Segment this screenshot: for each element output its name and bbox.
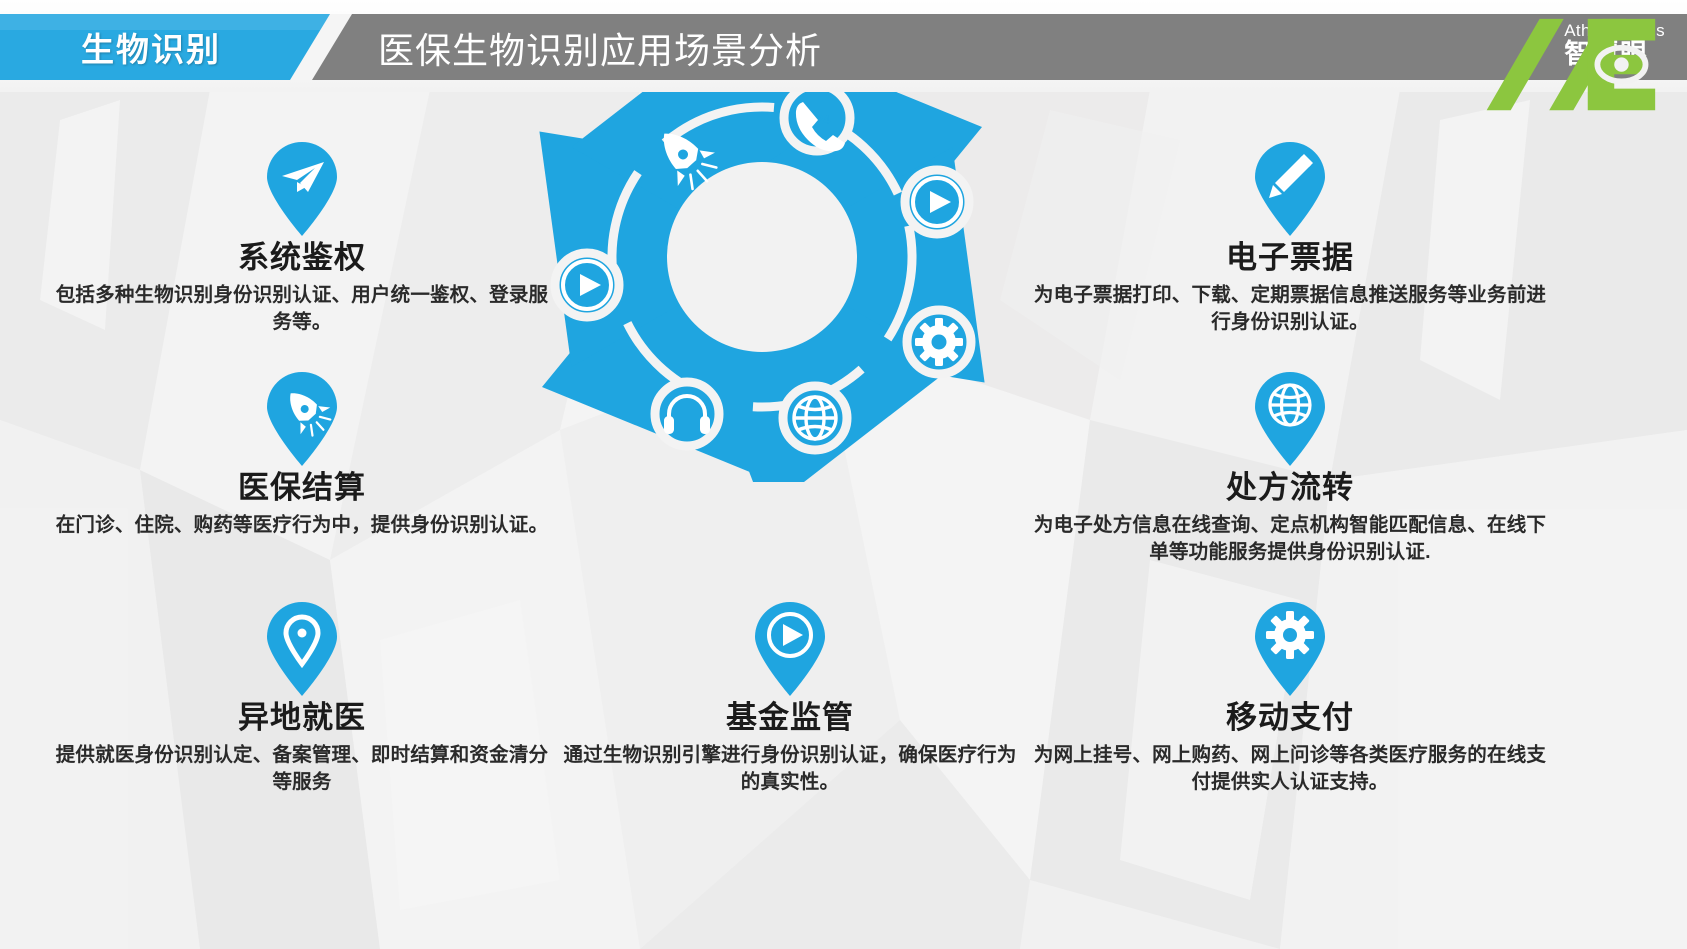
- node-description: 为电子票据打印、下载、定期票据信息推送服务等业务前进行身份识别认证。: [1030, 282, 1550, 337]
- header-category-label: 生物识别: [81, 23, 221, 71]
- rocket-pin: [263, 370, 341, 468]
- node-description: 通过生物识别引擎进行身份识别认证，确保医疗行为的真实性。: [560, 742, 1020, 797]
- gear-pin: [1251, 600, 1329, 698]
- map-pin-pin: [263, 600, 341, 698]
- page-title-label: 医保生物识别应用场景分析: [378, 22, 822, 74]
- node-description: 在门诊、住院、购药等医疗行为中，提供身份识别认证。: [52, 512, 552, 540]
- scenario-node-grid: 系统鉴权 包括多种生物识别身份识别认证、用户统一鉴权、登录服务等。: [0, 92, 1687, 949]
- node-system-authentication[interactable]: 系统鉴权 包括多种生物识别身份识别认证、用户统一鉴权、登录服务等。: [52, 140, 552, 337]
- paper-plane-pin: [263, 140, 341, 238]
- play-pin: [751, 600, 829, 698]
- node-description: 为电子处方信息在线查询、定点机构智能匹配信息、在线下单等功能服务提供身份识别认证…: [1030, 512, 1550, 567]
- node-medical-insurance-settlement[interactable]: 医保结算 在门诊、住院、购药等医疗行为中，提供身份识别认证。: [52, 370, 552, 539]
- node-title: 移动支付: [1030, 700, 1550, 736]
- node-title: 系统鉴权: [52, 240, 552, 276]
- node-title: 处方流转: [1030, 470, 1550, 506]
- page-title: 医保生物识别应用场景分析: [378, 20, 822, 76]
- node-title: 异地就医: [52, 700, 552, 736]
- node-description: 为网上挂号、网上购药、网上问诊等各类医疗服务的在线支付提供实人认证支持。: [1030, 742, 1550, 797]
- header-category-tag: 生物识别: [36, 20, 266, 74]
- page-header: 生物识别 医保生物识别应用场景分析 Athena Eyes 智慧眼: [0, 0, 1687, 92]
- node-electronic-bill[interactable]: 电子票据 为电子票据打印、下载、定期票据信息推送服务等业务前进行身份识别认证。: [1030, 140, 1550, 337]
- globe-pin: [1251, 370, 1329, 468]
- brand-logo: Athena Eyes 智慧眼: [1477, 14, 1665, 76]
- node-title: 医保结算: [52, 470, 552, 506]
- node-mobile-payment[interactable]: 移动支付 为网上挂号、网上购药、网上问诊等各类医疗服务的在线支付提供实人认证支持…: [1030, 600, 1550, 797]
- athena-eyes-mark-icon: [1477, 23, 1555, 67]
- pencil-pin: [1251, 140, 1329, 238]
- node-remote-medical-treatment[interactable]: 异地就医 提供就医身份识别认定、备案管理、即时结算和资金清分等服务: [52, 600, 552, 797]
- node-description: 包括多种生物识别身份识别认证、用户统一鉴权、登录服务等。: [52, 282, 552, 337]
- node-title: 电子票据: [1030, 240, 1550, 276]
- node-description: 提供就医身份识别认定、备案管理、即时结算和资金清分等服务: [52, 742, 552, 797]
- gear-icon: [1266, 611, 1314, 659]
- node-fund-supervision[interactable]: 基金监管 通过生物识别引擎进行身份识别认证，确保医疗行为的真实性。: [560, 600, 1020, 797]
- node-prescription-circulation[interactable]: 处方流转 为电子处方信息在线查询、定点机构智能匹配信息、在线下单等功能服务提供身…: [1030, 370, 1550, 567]
- node-title: 基金监管: [560, 700, 1020, 736]
